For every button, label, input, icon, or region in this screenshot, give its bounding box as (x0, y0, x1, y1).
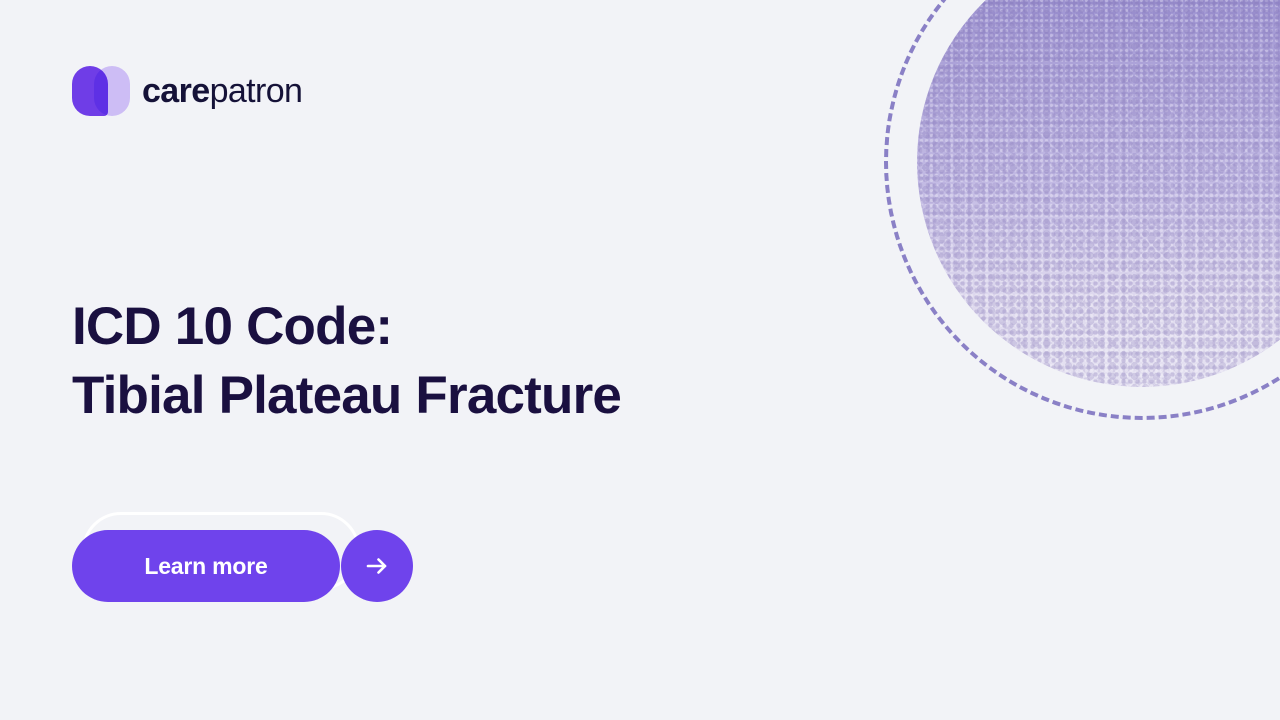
cta-group: Learn more (72, 512, 417, 602)
carepatron-arch-logo-icon (72, 66, 130, 116)
logo-arch-primary (72, 66, 108, 116)
decorative-graphic (860, 0, 1280, 440)
brand-wordmark: carepatron (142, 74, 302, 108)
brand-wordmark-bold: care (142, 72, 210, 110)
page-title-line-1: ICD 10 Code: (72, 292, 621, 362)
brand-wordmark-light: patron (210, 72, 303, 110)
page-title: ICD 10 Code: Tibial Plateau Fracture (72, 292, 621, 432)
brand-logo[interactable]: carepatron (72, 66, 302, 116)
page-title-line-2: Tibial Plateau Fracture (72, 361, 621, 431)
learn-more-arrow-button[interactable] (341, 530, 413, 602)
noise-texture-overlay (917, 0, 1280, 387)
arrow-right-icon (362, 551, 392, 581)
gradient-circle-icon (917, 0, 1280, 387)
dashed-circle-icon (884, 0, 1280, 420)
learn-more-button[interactable]: Learn more (72, 530, 340, 602)
